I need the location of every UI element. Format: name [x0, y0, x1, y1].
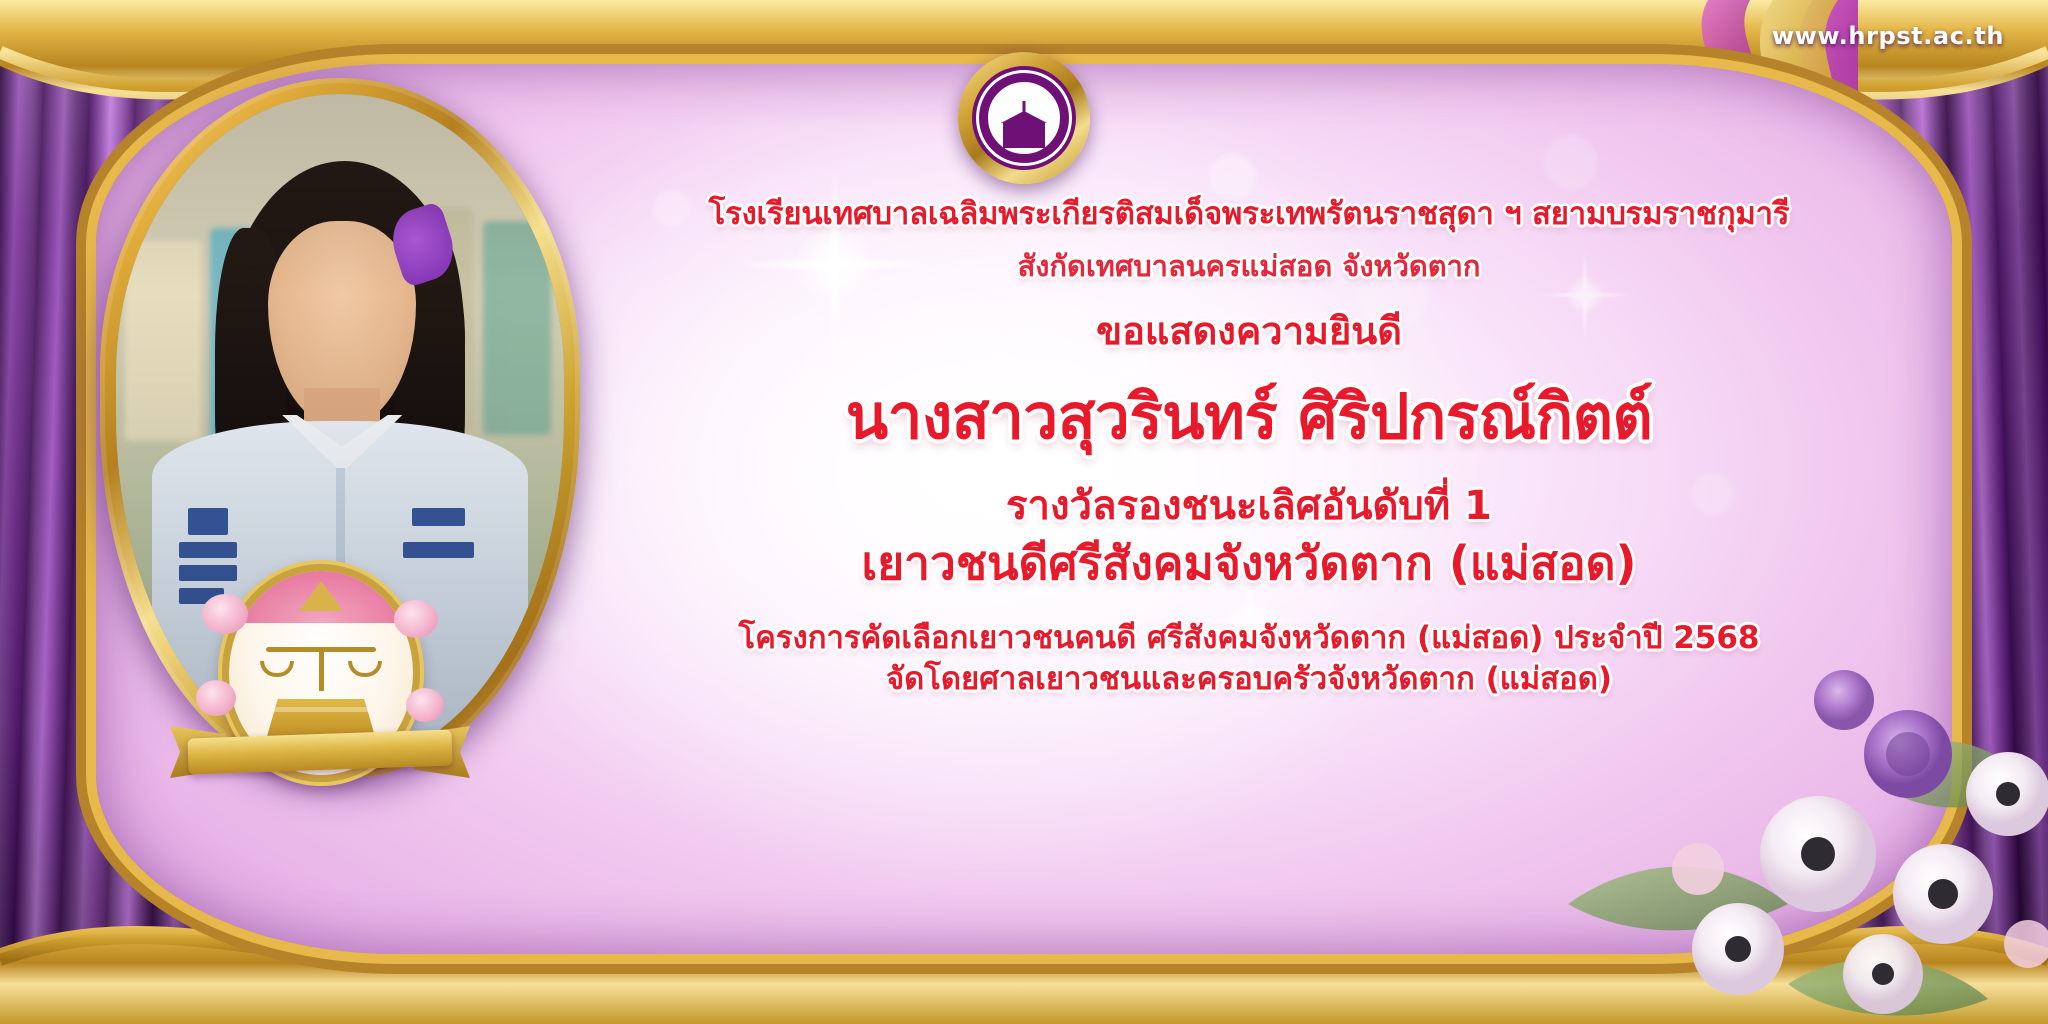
seal-flower [406, 688, 444, 722]
website-url[interactable]: www.hrpst.ac.th [1772, 22, 2004, 50]
school-emblem [958, 52, 1090, 184]
project-line-2: จัดโดยศาลเยาวชนและครอบครัวจังหวัดตาก (แม… [886, 661, 1612, 698]
juvenile-court-seal [196, 560, 446, 810]
student-name: นางสาวสุวรินทร์ ศิริปกรณ์กิตต์ [846, 380, 1652, 453]
seal-gold-ribbon [170, 720, 470, 782]
seal-scales-of-justice-icon [266, 633, 376, 691]
seal-flower [196, 680, 236, 716]
project-line-1: โครงการคัดเลือกเยาวชนคนดี ศรีสังคมจังหวั… [739, 620, 1760, 657]
seal-flower [202, 594, 248, 634]
congratulations-heading: ขอแสดงความยินดี [1096, 309, 1402, 354]
seal-crown-icon [299, 581, 343, 611]
seal-flower [394, 600, 438, 638]
school-emblem-building-icon [1003, 122, 1045, 148]
department-line: สังกัดเทศบาลนครแม่สอด จังหวัดตาก [1018, 249, 1481, 283]
school-name-line: โรงเรียนเทศบาลเฉลิมพระเกียรติสมเด็จพระเท… [709, 196, 1790, 233]
banner-stage: www.hrpst.ac.th โรงเรียนเทศบาลเฉลิมพระเก… [0, 0, 2048, 1024]
school-emblem-inner [972, 66, 1076, 170]
school-emblem-core [994, 88, 1054, 148]
award-title-line: เยาวชนดีศรีสังคมจังหวัดตาก (แม่สอด) [861, 536, 1636, 590]
award-rank-line: รางวัลรองชนะเลิศอันดับที่ 1 [1006, 483, 1492, 530]
text-content-block: โรงเรียนเทศบาลเฉลิมพระเกียรติสมเด็จพระเท… [560, 180, 1938, 904]
